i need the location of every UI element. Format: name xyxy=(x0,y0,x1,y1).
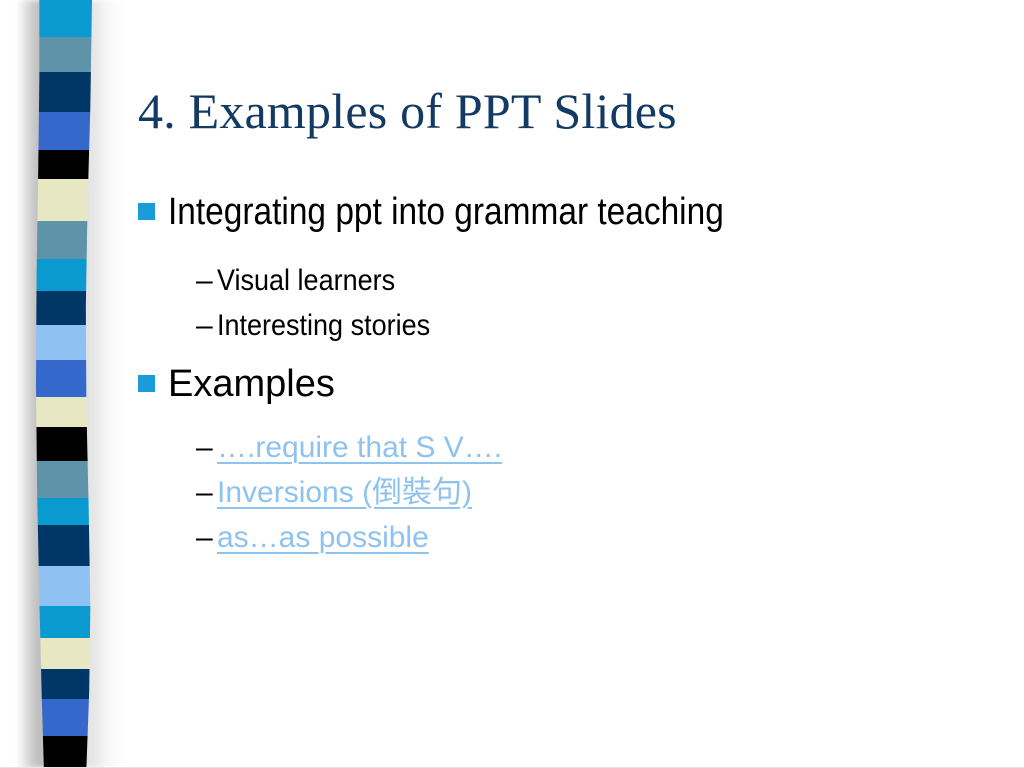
list-item: – Inversions (倒裝句) xyxy=(196,475,1008,511)
side-bar-band xyxy=(36,736,92,768)
bullet-text: Examples xyxy=(168,362,335,406)
list-item: – Visual learners xyxy=(196,263,1008,299)
list-item: – ….require that S V…. xyxy=(196,430,1008,466)
page-title: 4. Examples of PPT Slides xyxy=(138,84,978,138)
side-bar-band xyxy=(36,669,92,699)
side-bar-band xyxy=(36,699,92,736)
spacer xyxy=(138,236,1008,254)
side-bar-band xyxy=(36,291,92,325)
bullet-text: Visual learners xyxy=(217,263,395,299)
hyperlink-inversions[interactable]: Inversions (倒裝句) xyxy=(217,475,472,511)
side-bar-band xyxy=(36,37,92,72)
side-bar-band xyxy=(36,638,92,668)
powerpoint-slide: 4. Examples of PPT Slides Integrating pp… xyxy=(0,0,1024,768)
square-bullet-icon xyxy=(138,203,155,220)
side-bar-band xyxy=(36,0,92,37)
bullet-list: Integrating ppt into grammar teaching – … xyxy=(138,190,1008,556)
side-bar-band xyxy=(36,360,92,397)
side-bar-band xyxy=(36,498,92,525)
decorative-side-bar xyxy=(0,0,132,768)
side-bar-band xyxy=(36,606,92,638)
side-bar-band xyxy=(36,566,92,606)
list-item: – as…as possible xyxy=(196,520,1008,556)
dash-bullet-icon: – xyxy=(196,308,217,344)
spacer xyxy=(138,344,1008,362)
dash-bullet-icon: – xyxy=(196,263,217,299)
side-bar-band xyxy=(36,112,92,150)
list-item: Examples xyxy=(138,362,1008,406)
square-bullet-icon xyxy=(138,375,155,392)
list-item: – Interesting stories xyxy=(196,308,1008,344)
side-bar-band xyxy=(36,461,92,498)
spacer xyxy=(138,409,1008,421)
side-bar-band xyxy=(36,325,92,360)
list-item: Integrating ppt into grammar teaching xyxy=(138,190,1008,234)
side-bar-band xyxy=(36,397,92,427)
side-bar-band xyxy=(36,427,92,461)
dash-bullet-icon: – xyxy=(196,475,217,511)
side-bar-stripes xyxy=(36,0,92,768)
dash-bullet-icon: – xyxy=(196,430,217,466)
bullet-text: Integrating ppt into grammar teaching xyxy=(168,190,724,234)
hyperlink-as-as-possible[interactable]: as…as possible xyxy=(217,520,429,556)
side-bar-band xyxy=(36,179,92,221)
side-bar-band xyxy=(36,259,92,291)
dash-bullet-icon: – xyxy=(196,520,217,556)
side-bar-band xyxy=(36,221,92,259)
bullet-text: Interesting stories xyxy=(217,308,430,344)
side-bar-band xyxy=(36,525,92,567)
side-bar-band xyxy=(36,72,92,112)
side-bar-band xyxy=(36,150,92,179)
hyperlink-require-that-s-v[interactable]: ….require that S V…. xyxy=(217,430,502,466)
